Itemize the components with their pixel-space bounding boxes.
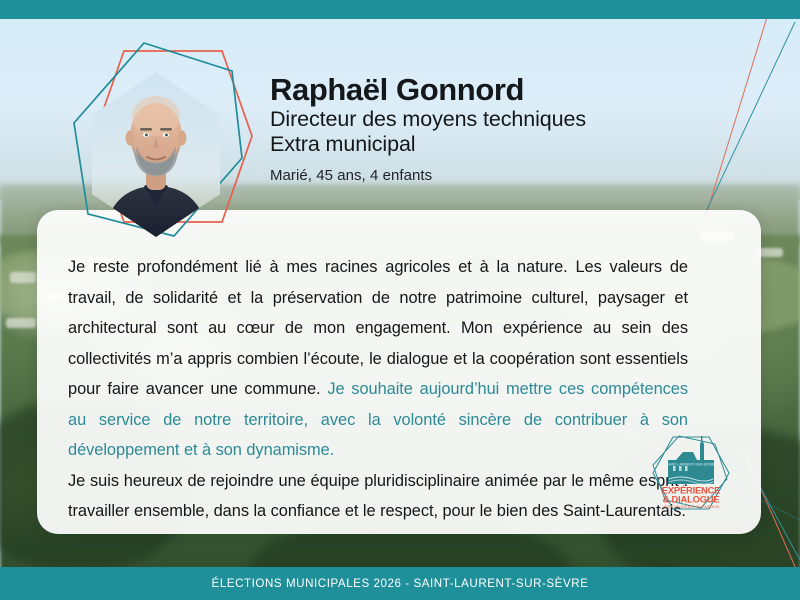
logo-title-line-2: & DIALOGUE bbox=[663, 494, 720, 505]
footer-election-text: ÉLECTIONS MUNICIPALES 2026 - SAINT-LAURE… bbox=[212, 577, 589, 590]
logo-emblem-label: SAINT-LAURENT-SUR-SÈVRE bbox=[666, 462, 716, 467]
person-role-line-1: Directeur des moyens techniques bbox=[270, 107, 586, 132]
basilica-hexagon-emblem-icon: SAINT-LAURENT-SUR-SÈVRE EXPÉRIENCE & DIA… bbox=[643, 434, 739, 512]
footer-bar: ÉLECTIONS MUNICIPALES 2026 - SAINT-LAURE… bbox=[0, 567, 800, 600]
background-rooftop bbox=[10, 272, 36, 283]
background-rooftop bbox=[6, 318, 36, 328]
biography-paragraph-1: Je reste profondément lié à mes racines … bbox=[68, 252, 688, 466]
person-personal-info: Marié, 45 ans, 4 enfants bbox=[270, 167, 586, 184]
logo-tagline: VERS UN AVENIR EN PARTAGE bbox=[662, 505, 720, 509]
biography-paragraph-2: Je suis heureux de rejoindre une équipe … bbox=[68, 466, 688, 527]
biography-card: Je reste profondément lié à mes racines … bbox=[37, 210, 761, 534]
page-title: Raphaël Gonnord bbox=[270, 74, 586, 107]
portrait-hexagon-group bbox=[56, 38, 256, 253]
candidate-header: Raphaël Gonnord Directeur des moyens tec… bbox=[270, 74, 586, 184]
top-accent-bar bbox=[0, 0, 800, 19]
biography-plain-text: Je reste profondément lié à mes racines … bbox=[68, 258, 688, 398]
campaign-logo[interactable]: SAINT-LAURENT-SUR-SÈVRE EXPÉRIENCE & DIA… bbox=[643, 434, 739, 512]
person-role-line-2: Extra municipal bbox=[270, 132, 586, 157]
biography-text: Je reste profondément lié à mes racines … bbox=[68, 252, 688, 527]
